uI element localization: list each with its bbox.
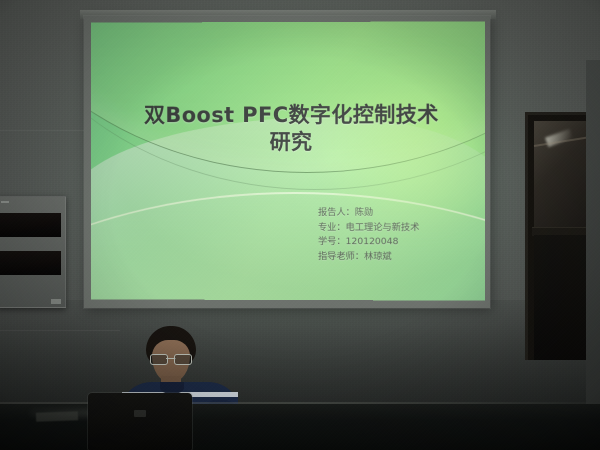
advisor-line: 指导老师：林琼斌	[318, 250, 469, 265]
wall-joint-line	[0, 130, 88, 131]
presenter-line: 报告人：陈勋	[318, 206, 469, 221]
vent-louvre	[0, 251, 61, 275]
glasses-lens-left	[150, 354, 168, 365]
vent-tick	[1, 201, 9, 203]
air-conditioner-vent	[0, 196, 66, 308]
slide-presenter-info: 报告人：陈勋 专业：电工理论与新技术 学号：120120048 指导老师：林琼斌	[318, 206, 469, 264]
paper-on-table	[36, 411, 78, 421]
slide-title: 双Boost PFC数字化控制技术研究	[137, 102, 447, 157]
glasses-icon	[150, 354, 192, 363]
vent-louvre	[0, 213, 61, 237]
laptop	[88, 393, 192, 450]
vent-badge	[51, 299, 61, 304]
photo-scene: 双Boost PFC数字化控制技术研究 报告人：陈勋 专业：电工理论与新技术 学…	[0, 0, 600, 450]
laptop-logo	[134, 410, 146, 417]
glasses-lens-right	[174, 354, 192, 365]
student-id-line: 学号：120120048	[318, 235, 469, 250]
projected-slide: 双Boost PFC数字化控制技术研究 报告人：陈勋 专业：电工理论与新技术 学…	[91, 21, 485, 300]
major-line: 专业：电工理论与新技术	[318, 221, 469, 236]
wall-joint-line	[0, 330, 120, 331]
right-wall-edge	[586, 60, 600, 450]
